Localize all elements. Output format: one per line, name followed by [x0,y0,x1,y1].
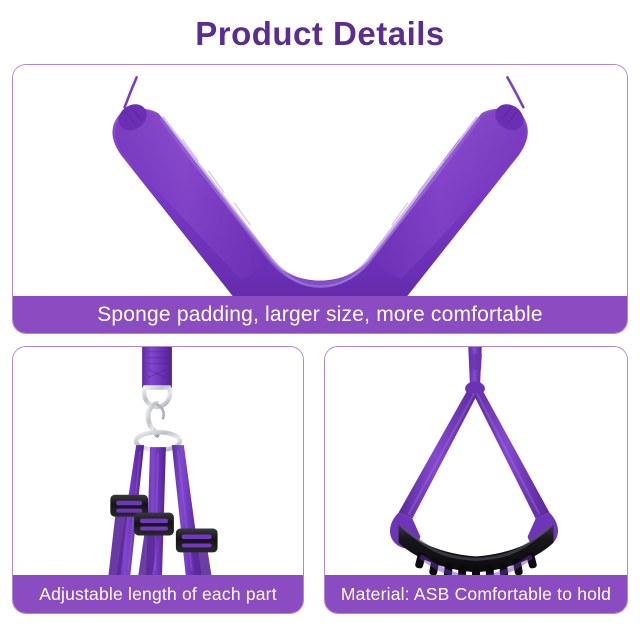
buckle-middle [134,513,174,536]
panel-adjustable-straps: Adjustable length of each part [12,346,304,614]
product-photo-sponge-padding [13,65,627,298]
top-strap-fold [470,354,482,370]
end-cap-gathers [125,107,518,123]
panel-caption-handle-material: Material: ASB Comfortable to hold [324,575,628,614]
strap-highlights [408,393,539,514]
page-title: Product Details [0,14,640,54]
product-photo-adjustable-straps [13,347,303,577]
panel-handle-material: Material: ASB Comfortable to hold [324,346,628,614]
panel-sponge-padding: Sponge padding, larger size, more comfor… [12,64,628,334]
sponge-pad-right-shading [372,109,527,279]
buckle-right [176,529,218,553]
strap-apex-knot [465,382,485,396]
top-webbing-strap [142,347,172,388]
sponge-sling-illustration [13,65,627,298]
cord-right [507,77,523,107]
panel-caption-sponge-padding: Sponge padding, larger size, more comfor… [12,296,628,334]
cord-left [125,77,137,107]
product-photo-handle [325,347,627,577]
handle-illustration [325,347,627,577]
adjustable-straps-illustration [13,347,303,577]
sponge-pad-left-shading [115,109,270,279]
panel-caption-adjustable-straps: Adjustable length of each part [12,575,304,614]
